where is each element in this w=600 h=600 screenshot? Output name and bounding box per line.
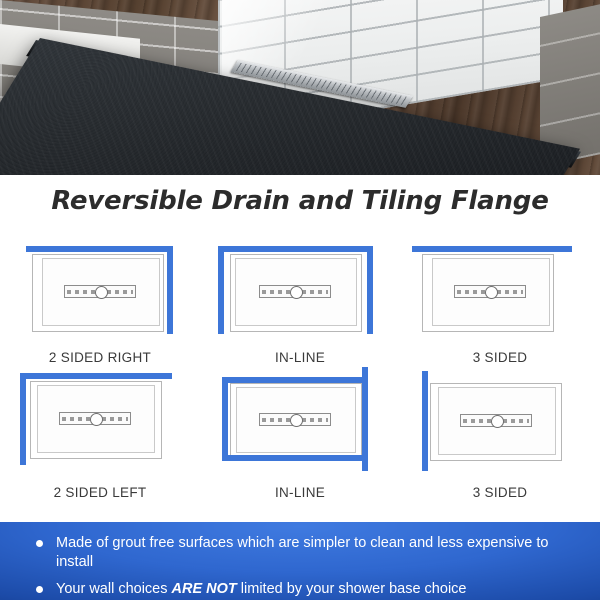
wall-top bbox=[412, 246, 572, 252]
infographic-page: Reversible Drain and Tiling Flange 2 SID… bbox=[0, 0, 600, 600]
diagram-caption: IN-LINE bbox=[200, 350, 400, 365]
wall-top bbox=[222, 377, 368, 383]
bullet-icon bbox=[36, 540, 43, 547]
list-item: Made of grout free surfaces which are si… bbox=[36, 534, 574, 572]
diagram-cell-3-sided-left: 3 SIDED bbox=[400, 367, 600, 502]
diagram-row-1: 2 SIDED RIGHT IN-LINE bbox=[0, 240, 600, 367]
features-list: Made of grout free surfaces which are si… bbox=[0, 522, 600, 599]
bullet-text-post: limited by your shower base choice bbox=[237, 581, 467, 597]
diagram-cell-in-line-bottom: IN-LINE bbox=[200, 367, 400, 502]
product-photo bbox=[0, 0, 600, 175]
wall-right bbox=[362, 367, 368, 471]
wall-top bbox=[26, 246, 173, 252]
drain-grate-icon bbox=[460, 414, 532, 427]
drain-hole bbox=[290, 286, 303, 299]
diagram-cell-2-sided-right: 2 SIDED RIGHT bbox=[0, 240, 200, 367]
drain-grate-icon bbox=[59, 412, 131, 425]
diagram-3-sided-top bbox=[400, 240, 600, 338]
diagram-cell-3-sided-top: 3 SIDED bbox=[400, 240, 600, 367]
wall-top bbox=[20, 373, 172, 379]
bullet-text: Made of grout free surfaces which are si… bbox=[56, 535, 548, 570]
features-banner: Made of grout free surfaces which are si… bbox=[0, 522, 600, 600]
drain-hole bbox=[485, 286, 498, 299]
diagram-in-line-bottom bbox=[200, 367, 400, 465]
wall-left bbox=[422, 371, 428, 471]
bullet-text-pre: Your wall choices bbox=[56, 581, 172, 597]
wall-bottom bbox=[222, 455, 368, 461]
diagram-3-sided-left bbox=[400, 367, 600, 465]
diagram-row-2: 2 SIDED LEFT IN-LINE bbox=[0, 367, 600, 502]
drain-grate-icon bbox=[259, 285, 331, 298]
wall-top bbox=[218, 246, 373, 252]
list-item: Your wall choices ARE NOT limited by you… bbox=[36, 580, 574, 599]
diagram-caption: 2 SIDED RIGHT bbox=[0, 350, 200, 365]
diagram-caption: 3 SIDED bbox=[400, 350, 600, 365]
drain-grate-icon bbox=[259, 413, 331, 426]
drain-hole bbox=[90, 413, 103, 426]
drain-grate-icon bbox=[454, 285, 526, 298]
wall-right bbox=[367, 246, 373, 334]
bullet-text-emphasis: ARE NOT bbox=[172, 581, 237, 597]
diagram-in-line-top bbox=[200, 240, 400, 338]
drain-grate-icon bbox=[64, 285, 136, 298]
diagram-caption: 2 SIDED LEFT bbox=[0, 485, 200, 500]
diagram-caption: IN-LINE bbox=[200, 485, 400, 500]
wall-left bbox=[20, 373, 26, 465]
drain-hole bbox=[491, 415, 504, 428]
wall-left bbox=[218, 246, 224, 334]
diagram-grid: 2 SIDED RIGHT IN-LINE bbox=[0, 240, 600, 502]
diagram-2-sided-left bbox=[0, 367, 200, 465]
diagram-cell-2-sided-left: 2 SIDED LEFT bbox=[0, 367, 200, 502]
drain-hole bbox=[290, 414, 303, 427]
diagram-2-sided-right bbox=[0, 240, 200, 338]
wall-right bbox=[167, 246, 173, 334]
page-title: Reversible Drain and Tiling Flange bbox=[0, 186, 600, 216]
drain-hole bbox=[95, 286, 108, 299]
diagram-caption: 3 SIDED bbox=[400, 485, 600, 500]
wall-left bbox=[222, 377, 228, 461]
diagram-cell-in-line-top: IN-LINE bbox=[200, 240, 400, 367]
bullet-icon bbox=[36, 586, 43, 593]
